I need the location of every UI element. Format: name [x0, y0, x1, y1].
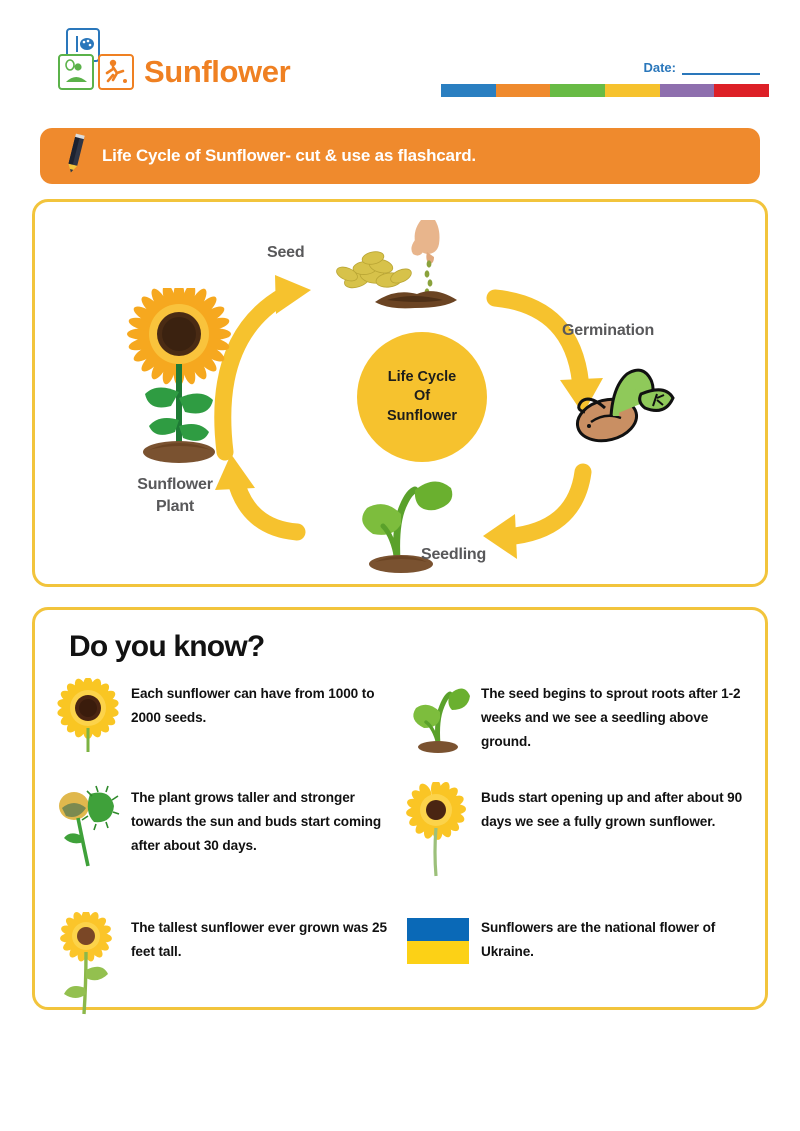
color-segment — [605, 84, 660, 97]
running-person-icon — [98, 54, 134, 90]
header-color-bar — [441, 84, 769, 97]
fact-text: Sunflowers are the national flower of Uk… — [481, 912, 755, 964]
sprouting-seed-icon — [569, 350, 685, 450]
cycle-label-sunflower-plant: Sunflower Plant — [115, 474, 235, 517]
cycle-label-seedling: Seedling — [421, 544, 486, 566]
cycle-label-seed: Seed — [267, 242, 304, 264]
fact-item: Buds start opening up and after about 90… — [405, 782, 755, 912]
color-segment — [550, 84, 605, 97]
center-line-1: Life Cycle — [388, 368, 457, 388]
worksheet-page: Sunflower Date: — [0, 0, 800, 1131]
instruction-banner: Life Cycle of Sunflower- cut & use as fl… — [40, 128, 760, 184]
tall-sunflower-icon — [55, 912, 121, 1016]
cycle-label-germination: Germination — [562, 320, 654, 342]
fact-item: The tallest sunflower ever grown was 25 … — [55, 912, 405, 998]
page-footer: 1 © RaisoActive.com — [0, 1020, 800, 1100]
cycle-label-line1: Sunflower — [115, 474, 235, 496]
sunflower-bloom-icon — [55, 678, 121, 754]
date-field[interactable]: Date: — [643, 60, 760, 75]
facts-left-column: Each sunflower can have from 1000 to 200… — [55, 678, 405, 998]
date-input-line[interactable] — [682, 61, 760, 75]
color-segment — [496, 84, 551, 97]
fact-text: The plant grows taller and stronger towa… — [131, 782, 405, 857]
teacher-icon — [58, 54, 94, 90]
do-you-know-title: Do you know? — [69, 630, 264, 664]
hand-sowing-seeds-icon — [317, 220, 497, 310]
fact-item: The seed begins to sprout roots after 1-… — [405, 678, 755, 782]
page-header: Sunflower Date: — [0, 0, 800, 120]
facts-grid: Each sunflower can have from 1000 to 200… — [55, 678, 755, 998]
fact-text: The seed begins to sprout roots after 1-… — [481, 678, 755, 753]
sunflower-bud-icon — [55, 782, 121, 868]
page-title: Sunflower — [144, 54, 290, 90]
fact-text: Each sunflower can have from 1000 to 200… — [131, 678, 405, 730]
life-cycle-card: Life Cycle Of Sunflower — [32, 199, 768, 587]
pencil-icon — [62, 133, 88, 180]
center-line-2: Of — [414, 387, 430, 407]
life-cycle-diagram: Life Cycle Of Sunflower — [35, 202, 771, 590]
color-segment — [660, 84, 715, 97]
banner-text: Life Cycle of Sunflower- cut & use as fl… — [102, 146, 476, 166]
color-segment — [441, 84, 496, 97]
center-line-3: Sunflower — [387, 407, 457, 427]
cycle-label-line2: Plant — [115, 496, 235, 518]
fact-text: Buds start opening up and after about 90… — [481, 782, 755, 834]
sunflower-stem-icon — [405, 782, 471, 878]
fact-item: Each sunflower can have from 1000 to 200… — [55, 678, 405, 782]
fact-text: The tallest sunflower ever grown was 25 … — [131, 912, 405, 964]
brand-logo: Sunflower — [58, 28, 318, 98]
ukraine-flag-icon — [405, 912, 471, 964]
facts-right-column: The seed begins to sprout roots after 1-… — [405, 678, 755, 998]
fact-item: The plant grows taller and stronger towa… — [55, 782, 405, 912]
date-label: Date: — [643, 60, 676, 75]
seedling-icon — [405, 678, 471, 754]
sunflower-plant-icon — [123, 288, 235, 470]
color-segment — [714, 84, 769, 97]
cycle-center-label: Life Cycle Of Sunflower — [357, 332, 487, 462]
do-you-know-card: Do you know? — [32, 607, 768, 1010]
fact-item: Sunflowers are the national flower of Uk… — [405, 912, 755, 998]
